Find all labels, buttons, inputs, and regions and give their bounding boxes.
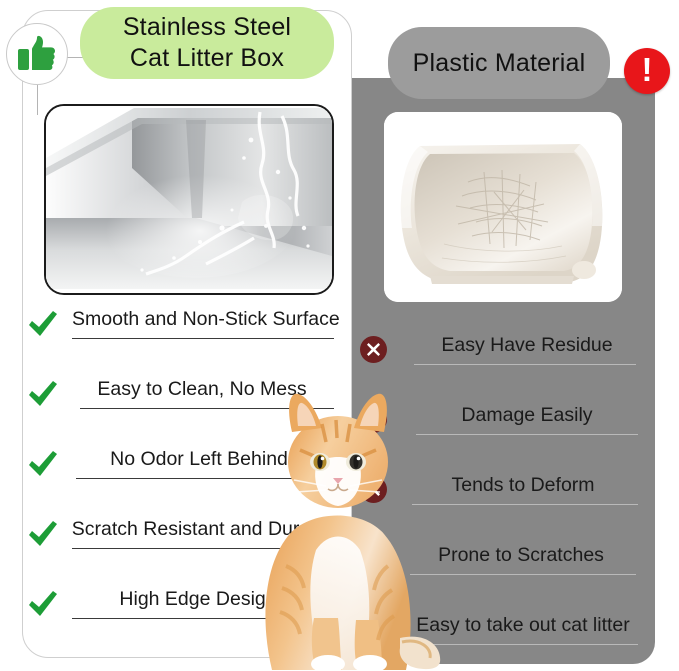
- green-check-icon: [28, 520, 58, 550]
- green-check-icon: [28, 450, 58, 480]
- stainless-steel-title-line1: Stainless Steel: [123, 12, 291, 43]
- feature-label: Smooth and Non-Stick Surface: [72, 304, 348, 334]
- red-x-icon: [360, 336, 390, 366]
- stainless-steel-sink-photo: [44, 104, 334, 295]
- plastic-litter-box-photo: [384, 112, 622, 302]
- stainless-steel-title-line2: Cat Litter Box: [123, 43, 291, 74]
- plastic-material-title-badge: Plastic Material: [388, 27, 610, 99]
- comparison-infographic: ! Stainless Steel Cat Litter Box Plastic…: [0, 0, 679, 671]
- thumbs-up-icon: [6, 23, 68, 85]
- underline: [412, 504, 638, 505]
- drawback-label: Tends to Deform: [412, 470, 634, 500]
- green-check-icon: [28, 380, 58, 410]
- warning-exclamation-icon: !: [624, 48, 670, 94]
- drawback-label: Damage Easily: [418, 400, 636, 430]
- stainless-steel-title-badge: Stainless Steel Cat Litter Box: [80, 7, 334, 79]
- drawback-label: Easy Have Residue: [414, 330, 640, 360]
- cat-photo: [230, 370, 445, 670]
- green-check-icon: [28, 310, 58, 340]
- connector-line-vertical: [37, 85, 38, 115]
- underline: [416, 434, 638, 435]
- list-item: Smooth and Non-Stick Surface: [28, 304, 348, 374]
- green-check-icon: [28, 590, 58, 620]
- underline: [72, 338, 334, 339]
- exclamation-glyph: !: [642, 53, 653, 86]
- underline: [414, 364, 636, 365]
